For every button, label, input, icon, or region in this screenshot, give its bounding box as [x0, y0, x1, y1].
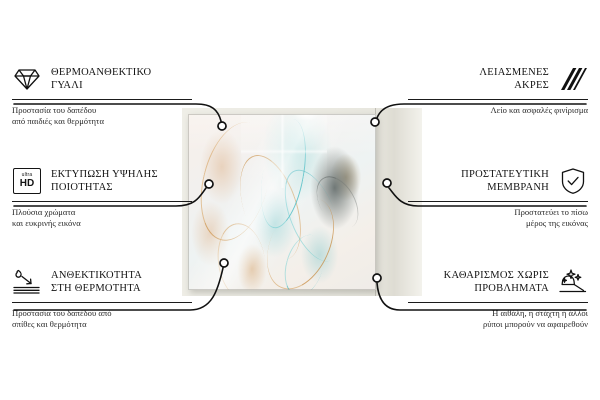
feature-title: ΚΑΘΑΡΙΣΜΟΣ ΧΩΡΙΣ ΠΡΟΒΛΗΜΑΤΑ: [408, 269, 549, 296]
feature-heat-resistant-glass: ΘΕΡΜΟΑΝΘΕΚΤΙΚΟ ΓΥΑΛΙ Προστασία του δαπέδ…: [12, 64, 192, 127]
feature-divider: [408, 201, 588, 202]
feature-subtitle: Προστατεύει το πίσω μέρος της εικόνας: [408, 207, 588, 229]
feature-title: ΕΚΤΥΠΩΣΗ ΥΨΗΛΗΣ ΠΟΙΟΤΗΤΑΣ: [51, 168, 192, 195]
feature-polished-edges: ΛΕΙΑΣΜΕΝΕΣ ΑΚΡΕΣ Λείο και ασφαλές φινίρι…: [408, 64, 588, 116]
ultra-hd-label-bottom: HD: [20, 179, 34, 189]
feature-header: ΛΕΙΑΣΜΕΝΕΣ ΑΚΡΕΣ: [408, 64, 588, 94]
feature-subtitle: Πλούσια χρώματα και ευκρινής εικόνα: [12, 207, 192, 229]
feature-subtitle: Προστασία του δαπέδου από σπίθες και θερ…: [12, 308, 192, 330]
feature-header: ΑΝΘΕΚΤΙΚΟΤΗΤΑ ΣΤΗ ΘΕΡΜΟΤΗΤΑ: [12, 267, 192, 297]
feature-subtitle: Η αιθάλη, η στάχτη ή άλλοι ρύποι μπορούν…: [408, 308, 588, 330]
feature-header: ΚΑΘΑΡΙΣΜΟΣ ΧΩΡΙΣ ΠΡΟΒΛΗΜΑΤΑ: [408, 267, 588, 297]
infographic-canvas: ΘΕΡΜΟΑΝΘΕΚΤΙΚΟ ΓΥΑΛΙ Προστασία του δαπέδ…: [0, 0, 600, 400]
feature-protective-membrane: ΠΡΟΣΤΑΤΕΥΤΙΚΗ ΜΕΜΒΡΑΝΗ Προστατεύει το πί…: [408, 166, 588, 229]
feature-header: ΠΡΟΣΤΑΤΕΥΤΙΚΗ ΜΕΜΒΡΑΝΗ: [408, 166, 588, 196]
flame-deflect-icon: [12, 267, 42, 297]
feature-divider: [408, 302, 588, 303]
feature-title: ΠΡΟΣΤΑΤΕΥΤΙΚΗ ΜΕΜΒΡΑΝΗ: [408, 168, 549, 195]
feature-divider: [12, 201, 192, 202]
glass-panel: [188, 114, 376, 290]
feature-header: ultra HD ΕΚΤΥΠΩΣΗ ΥΨΗΛΗΣ ΠΟΙΟΤΗΤΑΣ: [12, 166, 192, 196]
feature-heat-durability: ΑΝΘΕΚΤΙΚΟΤΗΤΑ ΣΤΗ ΘΕΡΜΟΤΗΤΑ Προστασία το…: [12, 267, 192, 330]
feature-subtitle: Προστασία του δαπέδου από παιδιές και θε…: [12, 105, 192, 127]
product-image: [182, 108, 422, 296]
feature-divider: [12, 302, 192, 303]
ultra-hd-badge-icon: ultra HD: [12, 166, 42, 196]
feature-title: ΘΕΡΜΟΑΝΘΕΚΤΙΚΟ ΓΥΑΛΙ: [51, 66, 192, 93]
feature-title: ΑΝΘΕΚΤΙΚΟΤΗΤΑ ΣΤΗ ΘΕΡΜΟΤΗΤΑ: [51, 269, 192, 296]
feature-title: ΛΕΙΑΣΜΕΝΕΣ ΑΚΡΕΣ: [408, 66, 549, 93]
feature-subtitle: Λείο και ασφαλές φινίρισμα: [408, 105, 588, 116]
feature-divider: [12, 99, 192, 100]
feature-divider: [408, 99, 588, 100]
feature-easy-cleaning: ΚΑΘΑΡΙΣΜΟΣ ΧΩΡΙΣ ΠΡΟΒΛΗΜΑΤΑ Η αιθάλη, η …: [408, 267, 588, 330]
feature-high-quality-print: ultra HD ΕΚΤΥΠΩΣΗ ΥΨΗΛΗΣ ΠΟΙΟΤΗΤΑΣ Πλούσ…: [12, 166, 192, 229]
abstract-ink-artwork: [188, 114, 376, 290]
diagonal-stripes-icon: [558, 64, 588, 94]
sparkle-wipe-icon: [558, 267, 588, 297]
feature-header: ΘΕΡΜΟΑΝΘΕΚΤΙΚΟ ΓΥΑΛΙ: [12, 64, 192, 94]
shield-check-icon: [558, 166, 588, 196]
diamond-icon: [12, 64, 42, 94]
